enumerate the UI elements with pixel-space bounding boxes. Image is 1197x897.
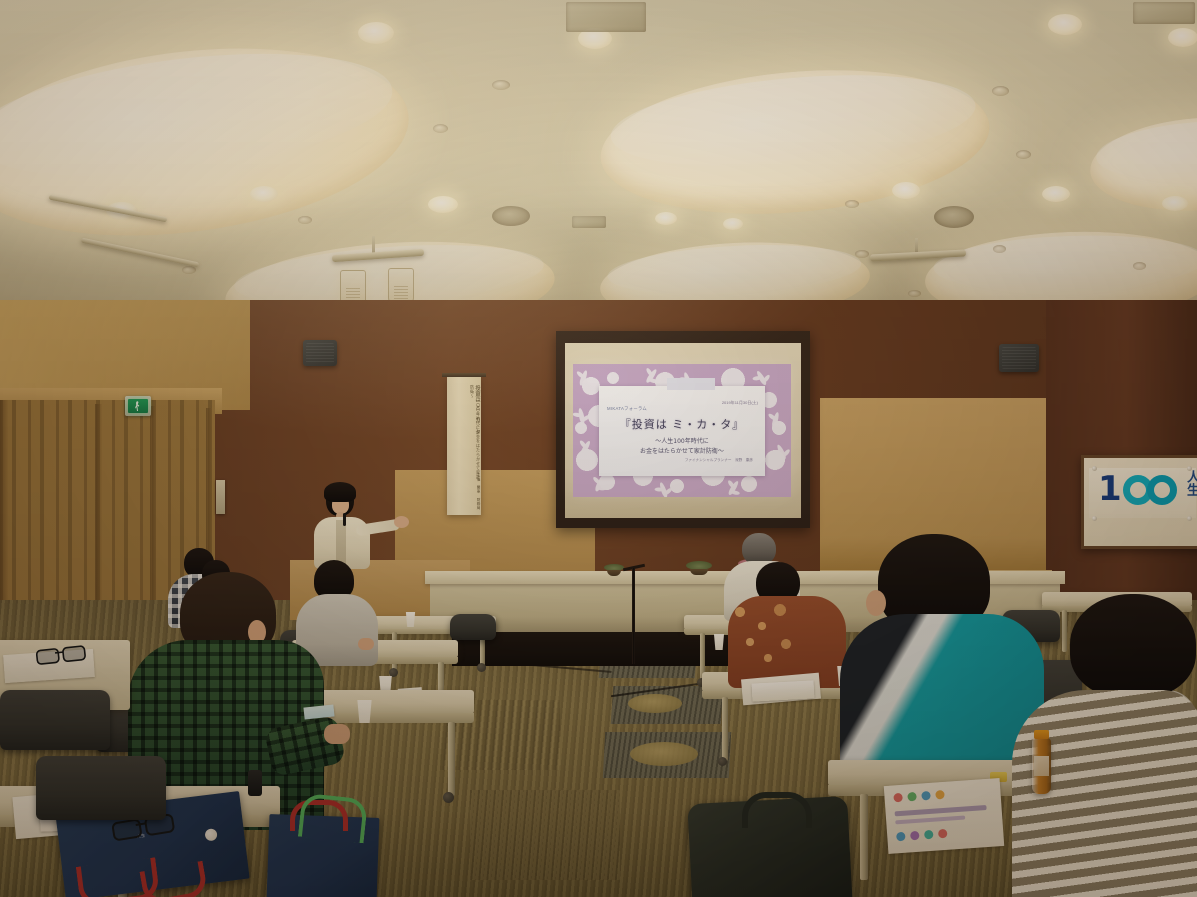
chair: [0, 690, 110, 750]
logo-digit-one: 1: [1098, 472, 1122, 506]
presenter-hand: [394, 516, 409, 528]
green-bag-handle: [298, 793, 368, 844]
slide-title: 『投資は ミ・カ・タ』: [599, 416, 765, 432]
water-flask: [248, 770, 262, 796]
logo-infinity-icon: [1123, 473, 1179, 505]
desk-leg: [860, 794, 868, 880]
sign-screw: [1187, 466, 1192, 471]
table-plant: [686, 562, 712, 575]
handout-icon-row: [896, 829, 948, 842]
handout-dot-icon: [938, 829, 948, 839]
desk-leg: [722, 697, 728, 761]
attendee-torso: [728, 596, 846, 688]
chair: [450, 614, 496, 640]
wall-notice-plate: [216, 480, 225, 514]
slide-kicker: MIKATAフォーラム: [607, 406, 647, 412]
bottle-cap: [1034, 730, 1049, 739]
eyeglass-lens: [62, 645, 87, 663]
100-logo: 1: [1098, 472, 1179, 506]
handout-icon-row: [893, 790, 945, 803]
chair: [36, 756, 166, 820]
plant-bowl: [690, 569, 708, 575]
slide-content-card: MIKATAフォーラム 2019年11月30日(土) 『投資は ミ・カ・タ』 ～…: [599, 386, 765, 476]
desk-caster: [389, 668, 398, 677]
100-logo-sign: 1 人生: [1081, 455, 1197, 549]
vertical-banner: 投資は ミ・カ・タ ～人生一〇〇年時代にお金をはたらかせて家計防衛～ 主催 関東…: [447, 377, 481, 515]
carpet-tile: [470, 790, 620, 880]
slide-credit: ファイナンシャルプランナー 深野 康彦: [685, 458, 753, 463]
handout-dot-icon: [896, 832, 906, 842]
exit-sign-face: [128, 399, 148, 413]
tea-bottle: [1032, 738, 1051, 794]
colorful-handout: [884, 778, 1004, 854]
table-plant: [604, 566, 624, 576]
handout-dot-icon: [893, 793, 903, 803]
carpet-tile-circle: [628, 694, 682, 713]
sign-screw: [1187, 516, 1192, 521]
handheld-microphone: [343, 513, 346, 526]
attendee-hand: [324, 724, 350, 744]
sign-japanese-text: 人生: [1183, 470, 1197, 496]
wall-right-wood: [1046, 300, 1197, 600]
handout-text-line: [895, 816, 965, 825]
backpack-strap: [742, 792, 812, 828]
attendee-ear: [866, 590, 886, 616]
handout-dot-icon: [921, 791, 931, 801]
slide-subtitle-line1: ～人生100年時代に: [599, 436, 765, 445]
sign-screw: [1092, 466, 1097, 471]
wall-speaker: [999, 344, 1039, 372]
desk-caster: [443, 792, 454, 803]
attendee-orange-pattern: [728, 562, 850, 692]
attendee-head: [1070, 594, 1196, 698]
slide-date: 2019年11月30日(土): [722, 400, 758, 406]
handout-dot-icon: [910, 831, 920, 841]
wall-speaker: [303, 340, 337, 366]
banner-footer: 主催 関東 財務局: [449, 473, 481, 511]
seminar-room-photo: MIKATAフォーラム 2019年11月30日(土) 『投資は ミ・カ・タ』 ～…: [0, 0, 1197, 897]
desk-leg: [448, 722, 455, 796]
plant-bowl: [607, 570, 621, 576]
desk-documents: [752, 680, 815, 701]
banner-subtitle: ～人生一〇〇年時代にお金をはたらかせて家計防衛～: [457, 385, 481, 481]
presenter-hair: [324, 482, 356, 502]
sign-screw: [1092, 516, 1097, 521]
desk-caster: [718, 757, 727, 766]
handout-dot-icon: [924, 830, 934, 840]
microphone-stand: [632, 568, 635, 664]
desk-caster: [477, 663, 486, 672]
slide-subtitle-line2: お金をはたらかせて家計防衛～: [599, 446, 765, 455]
presenter-jacket-opening: [336, 520, 346, 564]
tote-bag-badge: [204, 828, 217, 841]
desk-leg: [1062, 610, 1067, 652]
attendee-hand: [358, 638, 374, 650]
emergency-exit-sign: [125, 396, 151, 416]
projected-slide: MIKATAフォーラム 2019年11月30日(土) 『投資は ミ・カ・タ』 ～…: [573, 364, 791, 497]
eyeglass-lens: [35, 648, 60, 666]
bottle-label: [1034, 756, 1049, 776]
handout-text-line: [895, 805, 987, 816]
carpet-tile-circle: [630, 742, 698, 766]
slide-logo-placeholder: [667, 378, 715, 390]
handout-dot-icon: [935, 790, 945, 800]
handout-dot-icon: [907, 792, 917, 802]
running-person-icon: [135, 401, 140, 411]
